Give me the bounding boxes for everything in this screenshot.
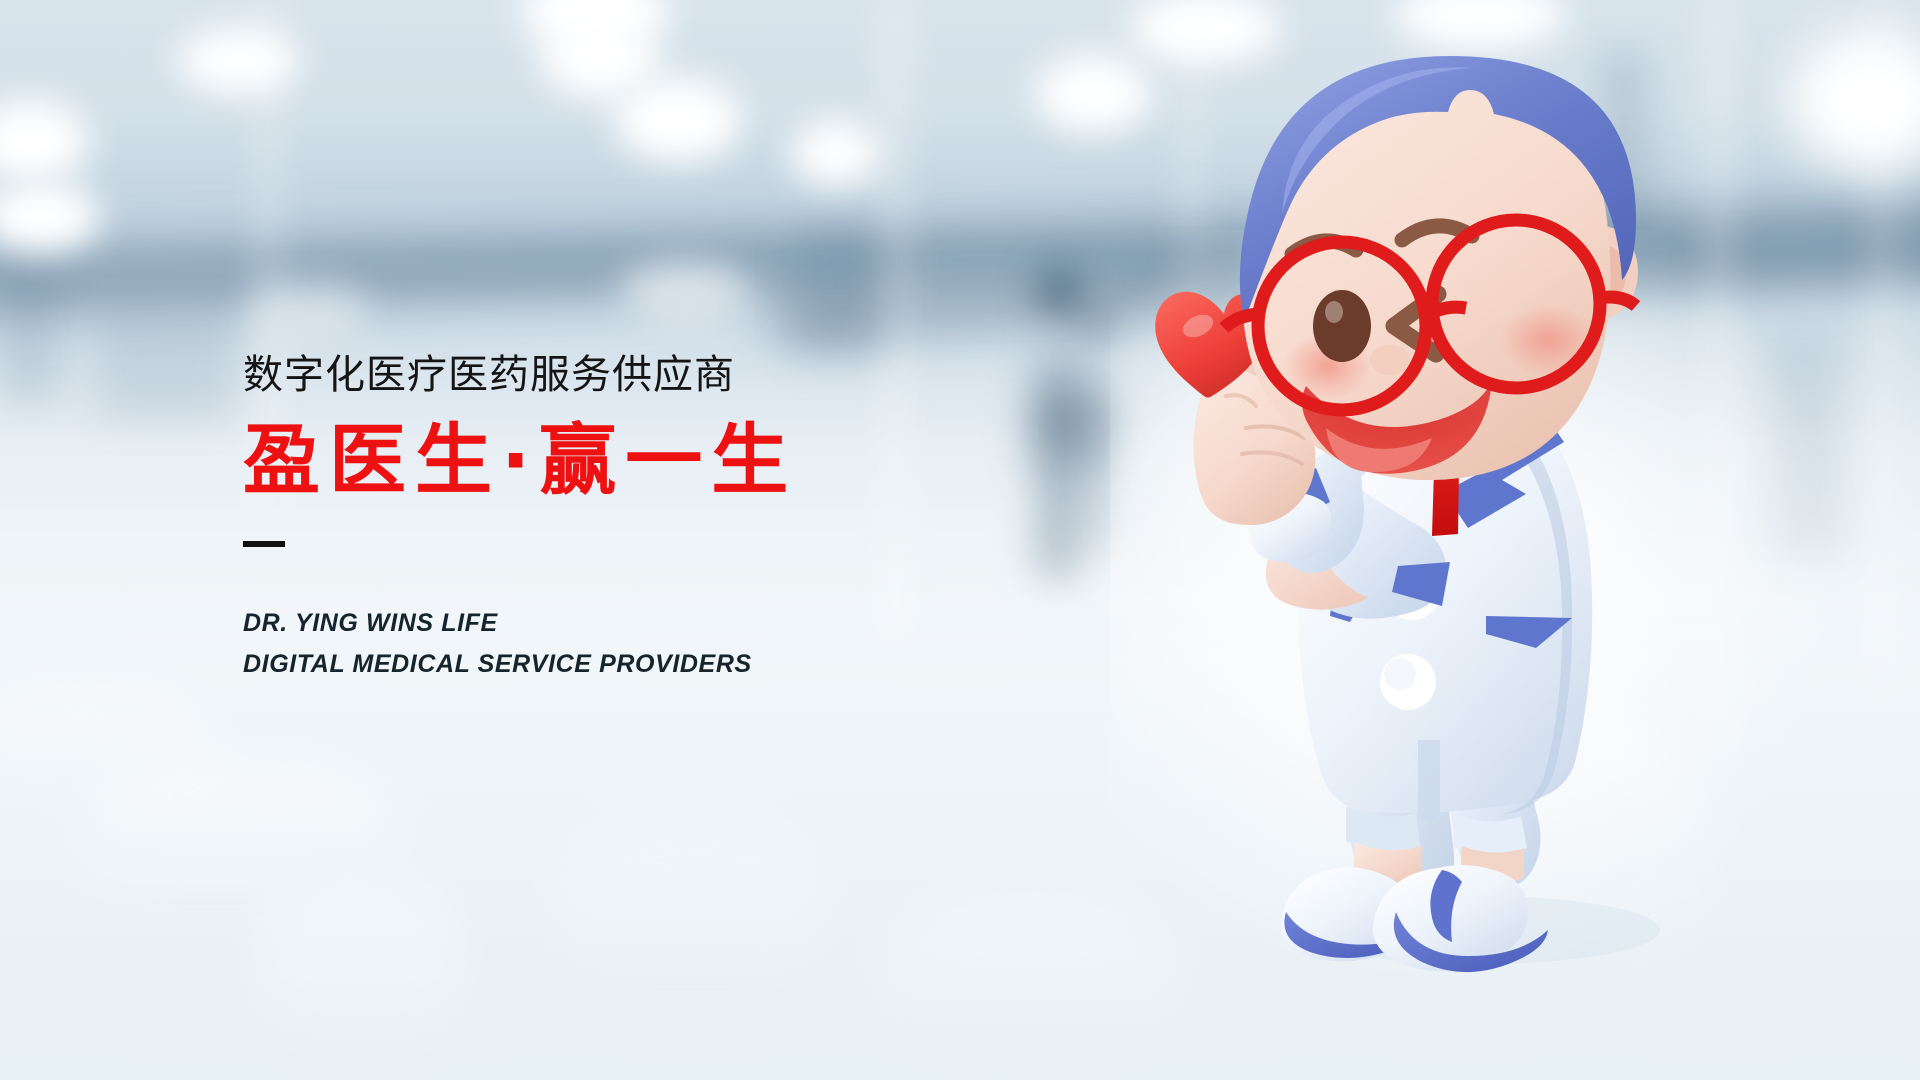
- ceiling-light: [790, 120, 882, 186]
- open-eye: [1313, 290, 1371, 362]
- doorway-panel: [795, 235, 885, 355]
- ceiling-light: [250, 280, 370, 336]
- ceiling-light: [614, 78, 742, 162]
- eyebrow-text: 数字化医疗医药服务供应商: [243, 352, 1003, 398]
- ceiling-light: [1035, 55, 1151, 133]
- nose: [1370, 345, 1410, 375]
- ceiling-light: [620, 260, 750, 318]
- page-title: 盈医生·赢一生: [243, 420, 1003, 503]
- blurred-person-silhouette: [1055, 300, 1141, 550]
- title-divider-rule: [243, 541, 285, 547]
- floor-reflection: [0, 690, 220, 810]
- subtitle-block: DR. YING WINS LIFE DIGITAL MEDICAL SERVI…: [243, 603, 1003, 684]
- eye-highlight: [1325, 301, 1343, 323]
- shoes: [1281, 865, 1548, 972]
- floor-reflection: [560, 820, 820, 990]
- coat-button-highlight: [1384, 658, 1416, 690]
- doorway-panel: [95, 310, 235, 420]
- hero-banner: 数字化医疗医药服务供应商 盈医生·赢一生 DR. YING WINS LIFE …: [0, 0, 1920, 1080]
- hero-copy-block: 数字化医疗医药服务供应商 盈医生·赢一生 DR. YING WINS LIFE …: [243, 352, 1003, 684]
- doctor-mascot: [1150, 50, 1850, 1040]
- ceiling-light: [178, 28, 298, 94]
- floor-reflection: [260, 880, 460, 1080]
- subtitle-line-2: DIGITAL MEDICAL SERVICE PROVIDERS: [243, 644, 1003, 685]
- subtitle-line-1: DR. YING WINS LIFE: [243, 603, 1003, 644]
- coat-hem-split: [1418, 740, 1440, 821]
- head: [1224, 56, 1638, 480]
- floor-reflection: [880, 900, 1180, 1080]
